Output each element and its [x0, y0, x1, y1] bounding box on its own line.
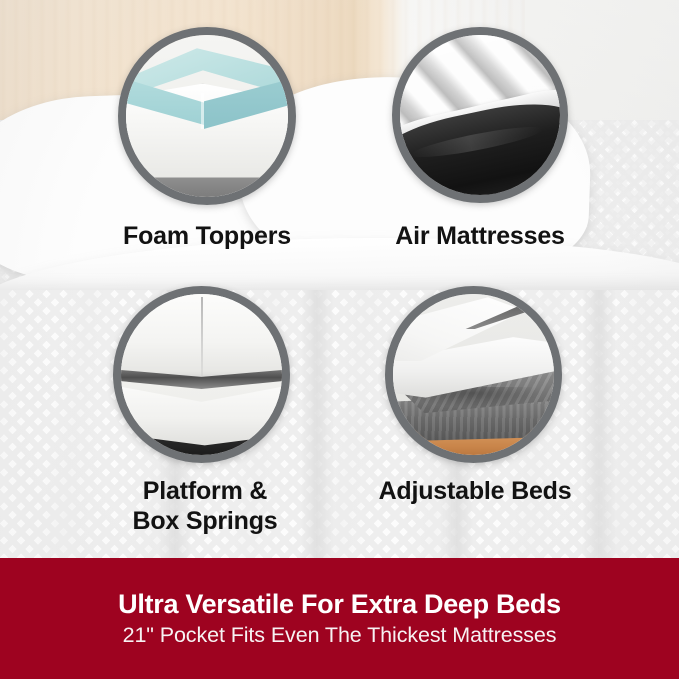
air-mattress-photo: [400, 35, 560, 195]
caption-foam-toppers: Foam Toppers: [67, 221, 347, 251]
product-feature-image: Foam Toppers Air Mattresses Platform & B…: [0, 0, 679, 679]
callout-circle-foam-toppers: [118, 27, 296, 205]
banner-headline: Ultra Versatile For Extra Deep Beds: [118, 591, 561, 618]
caption-air-mattresses: Air Mattresses: [335, 221, 625, 251]
banner-subhead: 21" Pocket Fits Even The Thickest Mattre…: [123, 625, 557, 647]
mattress-corner-seam: [201, 297, 203, 381]
adjustable-bed-photo: [393, 294, 554, 455]
caption-adjustable-beds: Adjustable Beds: [330, 476, 620, 506]
callout-circle-adjustable-beds: [385, 286, 562, 463]
foam-topper-photo: [126, 35, 288, 197]
promo-banner: Ultra Versatile For Extra Deep Beds 21" …: [0, 558, 679, 679]
platform-box-spring-photo: [121, 294, 282, 455]
foam-corner-highlight: [201, 93, 204, 129]
callout-circle-air-mattresses: [392, 27, 568, 203]
callout-circle-platform-box-springs: [113, 286, 290, 463]
caption-platform-box-springs: Platform & Box Springs: [65, 476, 345, 536]
